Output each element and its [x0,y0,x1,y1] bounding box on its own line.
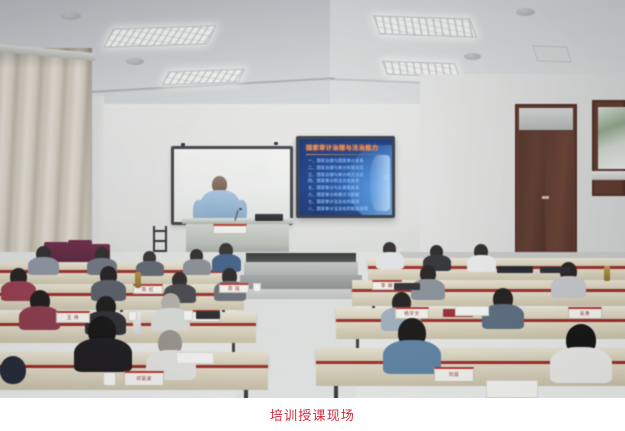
notebook [394,283,420,290]
nameplate-text: 周 强 [228,286,240,292]
slide-title-underline [306,154,390,155]
aisle-step [246,253,356,262]
slide-bullet-list: 一、国家治理与国家审计关系 二、国家治理与审计的导向式 三、国家治理与审计的方法… [308,158,386,212]
nameplate-text: 邓丽波 [136,376,152,382]
desk-nameplate: 王 伟 [56,311,90,323]
ceiling-light-panel [162,69,245,86]
ceiling-vent [532,45,572,62]
slide-bullet: 五、国家审计与反腐败体系 [308,185,386,192]
classroom-photo: 国家审计治理与法治能力 一、国家治理与国家审计关系 二、国家治理与审计的导向式 … [0,0,625,398]
attendee-body [383,340,441,374]
slide-title: 国家审计治理与法治能力 [306,145,390,153]
slide-bullet: 一、国家治理与国家审计关系 [308,158,386,165]
ceiling-speaker-icon [464,53,481,60]
door-leaf-right [547,131,573,251]
slide-bullet: 二、国家治理与审计的导向式 [308,165,386,172]
lectern-nameplate [213,224,247,234]
door-handle [542,196,549,199]
thermos-bottle [135,272,141,288]
nameplate-text: 王 伟 [67,315,79,321]
screen-logo-icon [384,175,389,180]
attendee-body [376,252,404,269]
attendee-body [551,276,586,298]
desk-nameplate: 邓丽波 [124,371,164,386]
folder [540,267,570,273]
water-cup [128,311,137,321]
nameplate-text: 吴勇 [580,311,590,317]
water-cup [253,283,261,292]
photo-caption: 培训授课现场 [270,405,355,424]
water-cup [183,310,193,321]
attendee-head [0,356,26,384]
window-glass [598,107,625,169]
ceiling-speaker-icon [516,8,535,16]
paper-sheet [176,352,214,364]
desk-nameplate: 吴勇 [568,307,602,319]
thermos-bottle [604,266,610,281]
door-transom [519,108,573,130]
slide-bullet: 八、国家审计法治化的制度保障 [308,206,386,213]
door-leaf-left [519,131,545,251]
nameplate-text: 刘丽 [449,372,459,378]
window-sill [592,171,625,180]
desk-nameplate: 刘丽 [434,367,474,382]
notebook [196,311,220,319]
presentation-screen: 国家审计治理与法治能力 一、国家治理与国家审计关系 二、国家治理与审计的导向式 … [296,136,395,218]
attendee-body [183,259,211,275]
desk-leg [244,390,248,398]
slide: 国家审计治理与法治能力 一、国家治理与国家审计关系 二、国家治理与审计的导向式 … [299,139,392,215]
attendee-body [550,347,612,383]
whiteboard-clip [181,143,185,146]
slide-bullet: 七、国家审计法治化的路径 [308,199,386,206]
caption-bar: 培训授课现场 [0,398,625,431]
attendee-body [19,306,60,330]
microphone-icon [239,208,242,210]
desk-leg [334,386,338,398]
attendee-body [467,255,496,272]
water-cup [103,372,116,386]
slide-bullet: 六、国家审计的模式与职能 [308,192,386,199]
folder [497,266,533,273]
whiteboard-clip [274,142,278,145]
laptop [255,214,283,221]
attendee-body [74,338,132,372]
aisle-step [244,262,358,275]
page-root: 国家审计治理与法治能力 一、国家治理与国家审计关系 二、国家治理与审计的导向式 … [0,0,625,431]
nameplate-text: 陈 红 [142,287,154,293]
desk-row [0,352,268,368]
paper-sheet [486,380,538,398]
nameplate-text: 李 娜 [381,283,393,289]
nameplate-text: 杨学文 [404,311,420,317]
paper-sheet [455,306,489,316]
ceiling-light-panel [103,25,216,48]
ceiling-speaker-icon [126,58,144,65]
ceiling-speaker-icon [61,12,81,20]
attendee-body [28,257,59,275]
ceiling-light-panel [373,15,477,37]
desk-nameplate: 周 强 [219,283,249,293]
